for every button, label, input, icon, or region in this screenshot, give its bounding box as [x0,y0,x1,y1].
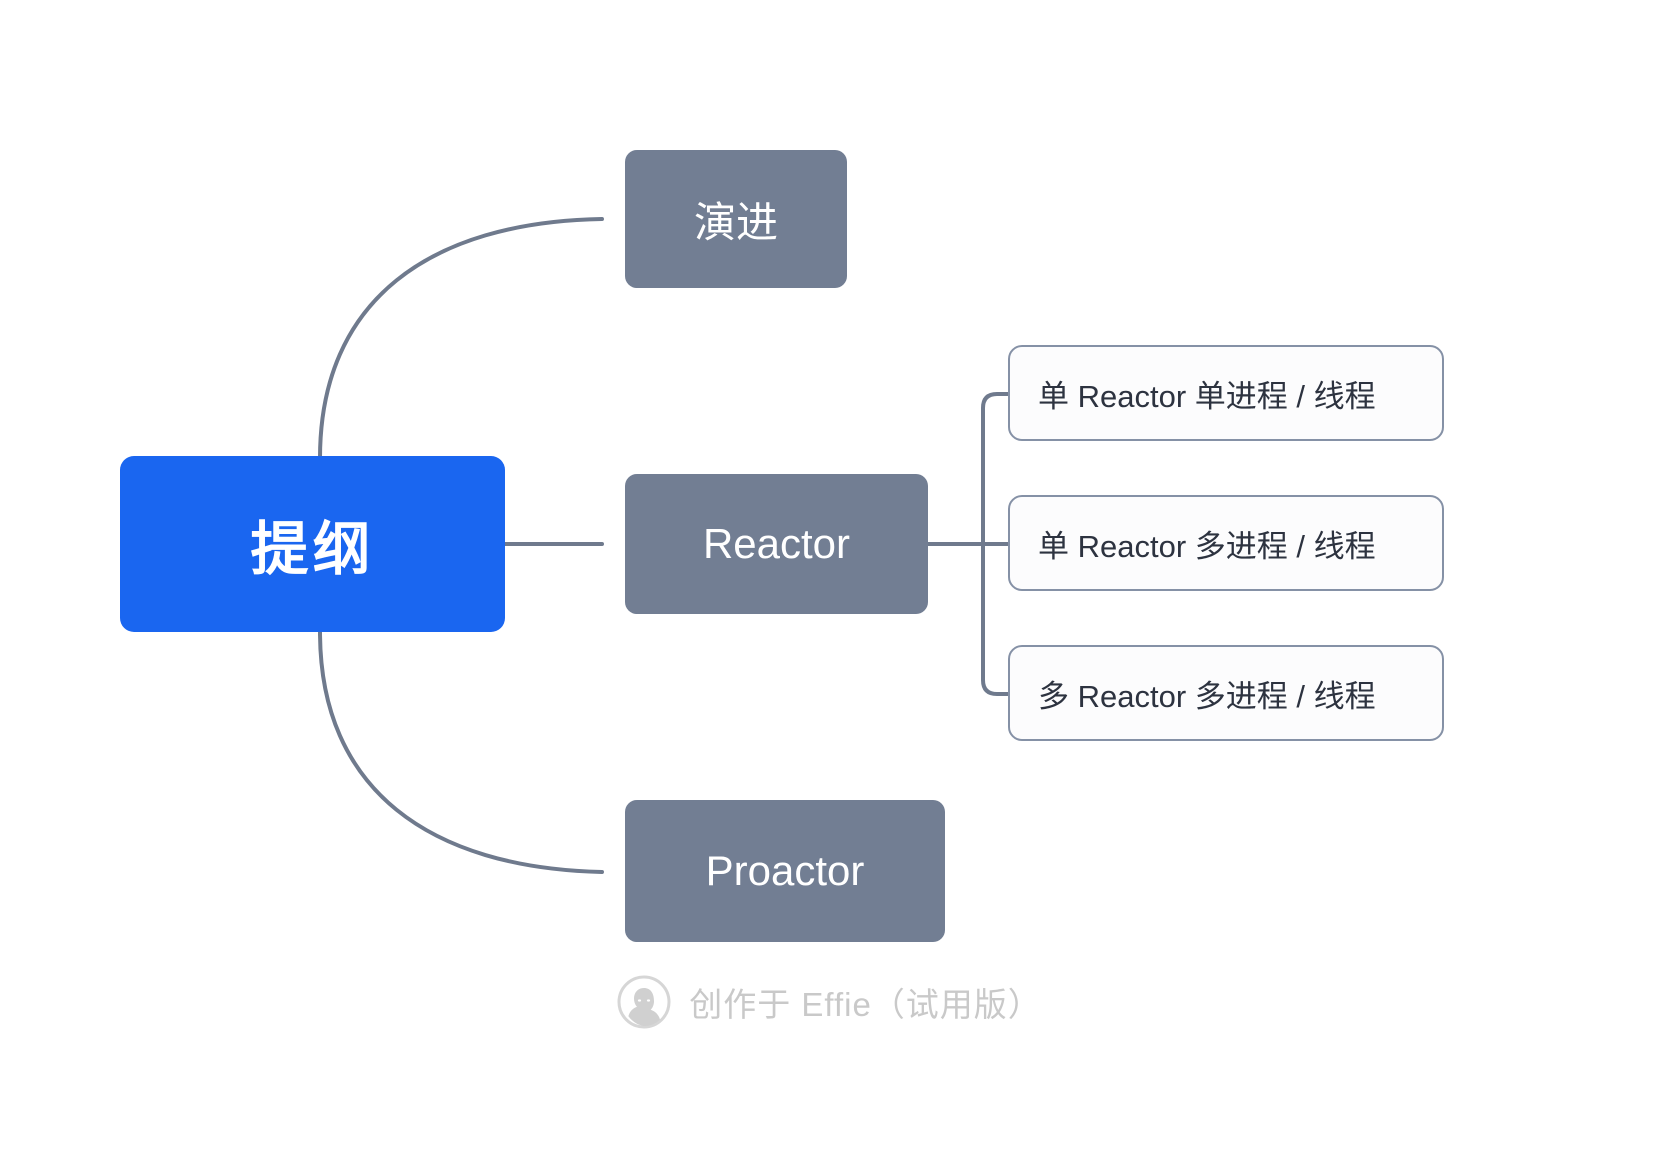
node-leaf-label: 单 Reactor 单进程 / 线程 [1038,371,1376,416]
node-leaf-reactor-single-multi[interactable]: 单 Reactor 多进程 / 线程 [1008,495,1444,591]
edge-root-to-evolution [320,219,602,458]
node-root[interactable]: 提纲 [120,456,505,632]
node-root-label: 提纲 [250,502,374,586]
node-branch-evolution[interactable]: 演进 [625,150,847,288]
avatar-icon [617,975,671,1029]
edge-reactor-spine [983,394,1010,694]
edge-root-to-proactor [320,632,602,872]
watermark: 创作于 Effie（试用版） [0,975,1659,1029]
node-leaf-reactor-single-single[interactable]: 单 Reactor 单进程 / 线程 [1008,345,1444,441]
node-branch-evolution-label: 演进 [694,189,778,250]
node-branch-proactor[interactable]: Proactor [625,800,945,942]
node-leaf-label: 单 Reactor 多进程 / 线程 [1038,521,1376,566]
node-leaf-label: 多 Reactor 多进程 / 线程 [1038,671,1376,716]
node-leaf-reactor-multi-multi[interactable]: 多 Reactor 多进程 / 线程 [1008,645,1444,741]
node-branch-reactor[interactable]: Reactor [625,474,928,614]
mindmap-canvas: 提纲 演进 Reactor Proactor 单 Reactor 单进程 / 线… [0,0,1659,1159]
node-branch-proactor-label: Proactor [706,847,865,895]
node-branch-reactor-label: Reactor [703,520,850,568]
watermark-text: 创作于 Effie（试用版） [689,978,1042,1026]
